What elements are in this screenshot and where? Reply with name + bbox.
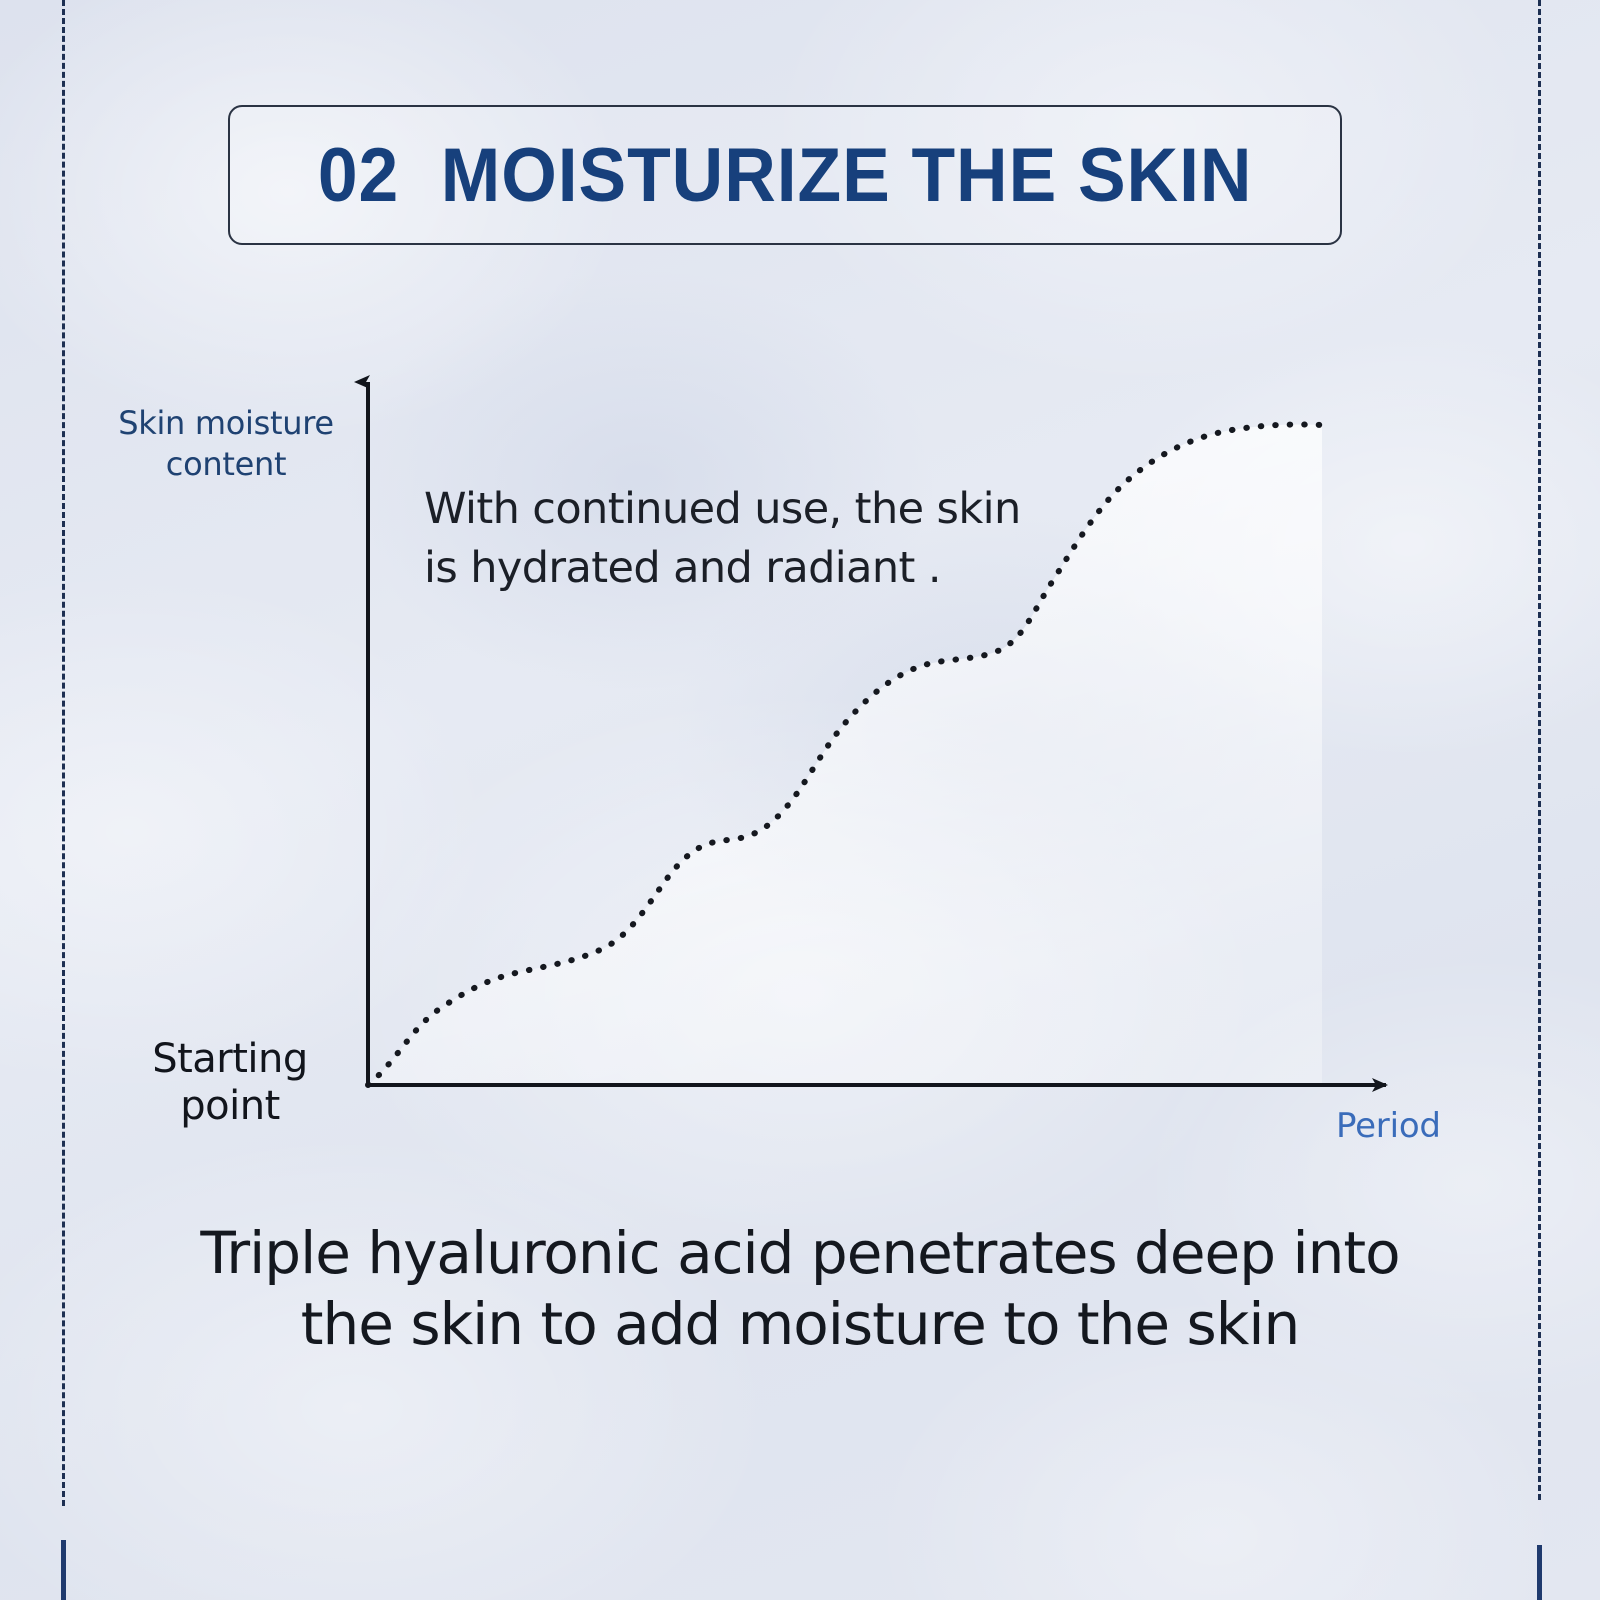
- y-axis-label: Skin moisture content: [96, 403, 356, 485]
- page-frame-left-solid-rule: [61, 1540, 66, 1600]
- starting-point-label: Starting point: [120, 1036, 340, 1130]
- infographic-page: 02 MOISTURIZE THE SKIN: [0, 0, 1600, 1600]
- x-axis-label: Period: [1336, 1106, 1441, 1146]
- bottom-caption: Triple hyaluronic acid penetrates deep i…: [180, 1218, 1420, 1360]
- page-frame-right-solid-rule: [1537, 1545, 1542, 1600]
- chart-annotation-text: With continued use, the skin is hydrated…: [424, 480, 1124, 598]
- step-title-box: 02 MOISTURIZE THE SKIN: [228, 105, 1342, 245]
- page-frame-left-dashed-rule: [62, 0, 65, 1506]
- page-frame-right-dashed-rule: [1538, 0, 1541, 1500]
- page-title: 02 MOISTURIZE THE SKIN: [318, 132, 1253, 219]
